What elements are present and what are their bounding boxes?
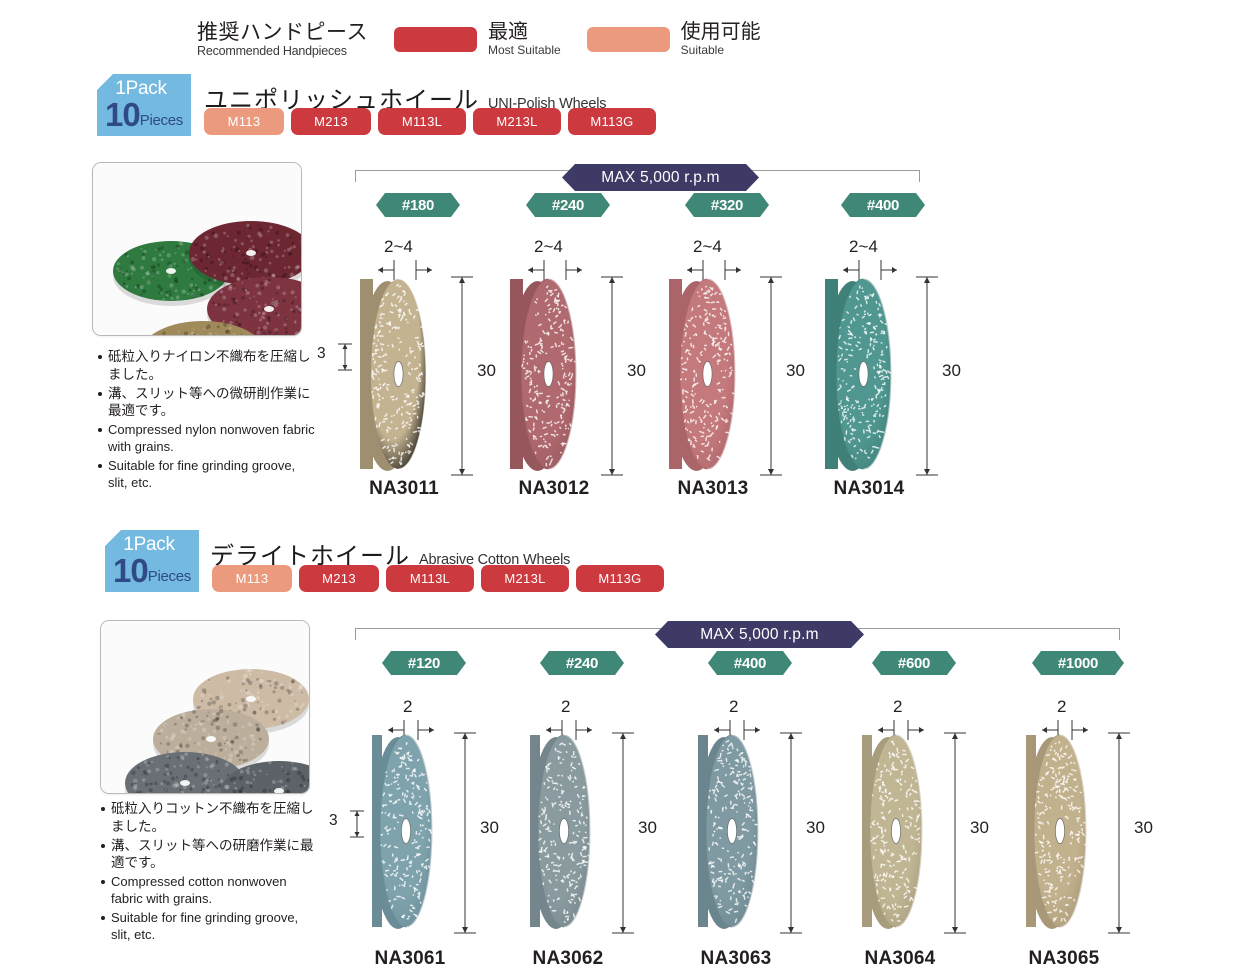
part-number-value: NA3063 [701,948,772,969]
diameter-dimension-marks [451,273,477,479]
grit-label: #320 [711,197,743,214]
bore-value: 3 [317,345,326,362]
thickness-value: 2 [893,697,902,716]
diameter-value: 30 [480,818,499,837]
feature-bullet-en: Compressed cotton nonwoven fabric with g… [100,873,318,907]
thickness-dimension-marks [370,260,440,280]
bore-label: 3 [317,345,326,363]
diameter-label: 30 [970,818,989,838]
part-number: NA3013 [653,478,773,500]
diameter-dimension-marks [1108,729,1134,937]
grit-label: #120 [408,655,440,672]
part-number-value: NA3011 [369,478,439,499]
thickness-label: 2 [729,697,738,717]
part-number: NA3065 [1004,948,1124,970]
handpiece-chip-m213l[interactable]: M213L [473,108,561,135]
thickness-label: 2 [403,697,412,717]
handpiece-chip-label: M213 [314,114,348,129]
part-number-value: NA3064 [865,948,936,969]
diameter-value: 30 [806,818,825,837]
handpiece-chip-m213[interactable]: M213 [299,565,379,592]
wheel-illustration [825,279,893,475]
part-number: NA3062 [508,948,628,970]
thickness-value: 2 [1057,697,1066,716]
handpiece-chip-label: M213 [322,571,356,586]
legend-suitable-jp: 使用可能 [681,22,761,43]
diameter-value: 30 [786,361,805,380]
thickness-label: 2 [1057,697,1066,717]
grit-badge: #600 [872,651,956,675]
grit-label: #600 [898,655,930,672]
handpiece-chip-label: M113L [402,114,442,129]
handpiece-chip-m113g[interactable]: M113G [576,565,664,592]
legend-suitable-en: Suitable [681,44,761,57]
legend-most-suitable-jp: 最適 [488,22,561,43]
thickness-dimension-marks [679,260,749,280]
thickness-value: 2~4 [693,237,722,256]
grit-label: #400 [867,197,899,214]
bore-label: 3 [329,812,338,830]
max-rpm-banner: MAX 5,000 r.p.m [655,621,864,648]
wheel-illustration [530,735,592,933]
thickness-value: 2~4 [384,237,413,256]
diameter-value: 30 [970,818,989,837]
handpiece-chip-label: M213L [504,571,545,586]
grit-badge: #400 [841,193,925,217]
bore-value: 3 [329,812,338,829]
diameter-dimension-marks [760,273,786,479]
pack-badge-count: 10 [113,552,148,589]
feature-bullet-jp: 砥粒入りナイロン不織布を圧縮しました。 [97,348,315,384]
diameter-label: 30 [806,818,825,838]
diameter-label: 30 [480,818,499,838]
part-number-value: NA3012 [519,478,590,499]
handpiece-chip-label: M113G [590,114,633,129]
handpiece-chip-m213l[interactable]: M213L [481,565,569,592]
feature-bullets: 砥粒入りナイロン不織布を圧縮しました。溝、スリット等への微研削作業に最適です。C… [97,348,315,492]
diameter-dimension-marks [916,273,942,479]
pack-badge-unit: Pieces [140,112,183,129]
grit-label: #400 [734,655,766,672]
grit-badge: #400 [708,651,792,675]
part-number-value: NA3061 [375,948,446,969]
diameter-label: 30 [477,361,496,381]
wheel-illustration [360,279,428,475]
legend: 推奨ハンドピース Recommended Handpieces 最適 Most … [197,22,761,58]
legend-title-en: Recommended Handpieces [197,45,368,58]
wheel-illustration [1026,735,1088,933]
thickness-label: 2 [893,697,902,717]
diameter-dimension-marks [454,729,480,937]
part-number-value: NA3065 [1029,948,1100,969]
wheel-illustration [698,735,760,933]
thickness-dimension-marks [520,260,590,280]
max-rpm-label: MAX 5,000 r.p.m [700,626,818,644]
thickness-value: 2 [403,697,412,716]
grit-badge: #240 [526,193,610,217]
grit-badge: #240 [540,651,624,675]
thickness-label: 2~4 [693,237,722,257]
pack-badge-count-row: 10Pieces [105,552,199,590]
legend-most-suitable: 最適 Most Suitable [394,22,561,57]
diameter-label: 30 [942,361,961,381]
legend-most-suitable-en: Most Suitable [488,44,561,57]
thickness-dimension-marks [835,260,905,280]
thickness-label: 2~4 [849,237,878,257]
diameter-value: 30 [627,361,646,380]
product-photo [92,162,302,336]
max-rpm-label: MAX 5,000 r.p.m [601,169,719,187]
diameter-label: 30 [1134,818,1153,838]
handpiece-chip-label: M113G [598,571,641,586]
wheel-illustration [372,735,434,933]
pack-badge-count-row: 10Pieces [97,96,191,134]
wheel-illustration [510,279,578,475]
thickness-value: 2~4 [534,237,563,256]
thickness-label: 2~4 [534,237,563,257]
handpiece-chip-m213[interactable]: M213 [291,108,371,135]
handpiece-chip-m113[interactable]: M113 [204,108,284,135]
wheel-illustration [862,735,924,933]
feature-bullet-jp: 溝、スリット等への研磨作業に最適です。 [100,837,318,873]
handpiece-chip-m113g[interactable]: M113G [568,108,656,135]
diameter-label: 30 [786,361,805,381]
handpiece-chip-m113l[interactable]: M113L [386,565,474,592]
thickness-value: 2 [729,697,738,716]
part-number-value: NA3062 [533,948,604,969]
diameter-value: 30 [477,361,496,380]
feature-bullet-en: Suitable for fine grinding groove, slit,… [97,457,315,491]
thickness-label: 2~4 [384,237,413,257]
feature-bullet-en: Suitable for fine grinding groove, slit,… [100,909,318,943]
handpiece-chip-label: M113L [410,571,450,586]
part-number: NA3014 [809,478,929,500]
diameter-value: 30 [942,361,961,380]
diameter-dimension-marks [601,273,627,479]
pack-badge: 1Pack 10Pieces [105,530,199,592]
grit-label: #240 [566,655,598,672]
feature-bullet-jp: 溝、スリット等への微研削作業に最適です。 [97,385,315,421]
part-number: NA3064 [840,948,960,970]
bore-dimension-marks [336,342,356,372]
grit-badge: #1000 [1032,651,1124,675]
handpiece-chip-list: M113M213M113LM213LM113G [212,565,671,592]
legend-suitable: 使用可能 Suitable [587,22,761,57]
catalog-page: 推奨ハンドピース Recommended Handpieces 最適 Most … [0,0,1243,979]
feature-bullet-en: Compressed nylon nonwoven fabric with gr… [97,421,315,455]
grit-badge: #120 [382,651,466,675]
max-rpm-banner: MAX 5,000 r.p.m [562,164,759,191]
thickness-value: 2~4 [849,237,878,256]
pack-badge-count: 10 [105,96,140,133]
part-number: NA3061 [350,948,470,970]
pack-badge-unit: Pieces [148,568,191,585]
swatch-most-suitable [394,27,477,52]
part-number: NA3063 [676,948,796,970]
grit-badge: #320 [685,193,769,217]
bore-dimension-marks [348,809,368,839]
handpiece-chip-label: M113 [228,114,261,129]
grit-label: #240 [552,197,584,214]
diameter-value: 30 [1134,818,1153,837]
wheel-illustration [669,279,737,475]
legend-title-jp: 推奨ハンドピース [197,22,368,44]
legend-title: 推奨ハンドピース Recommended Handpieces [197,22,368,58]
handpiece-chip-m113l[interactable]: M113L [378,108,466,135]
handpiece-chip-label: M113 [236,571,269,586]
diameter-dimension-marks [944,729,970,937]
part-number-value: NA3013 [678,478,749,499]
grit-label: #180 [402,197,434,214]
pack-badge: 1Pack 10Pieces [97,74,191,136]
diameter-label: 30 [627,361,646,381]
handpiece-chip-label: M213L [496,114,537,129]
thickness-label: 2 [561,697,570,717]
part-number: NA3011 [344,478,464,500]
diameter-dimension-marks [612,729,638,937]
grit-label: #1000 [1058,655,1098,672]
product-photo [100,620,310,794]
part-number-value: NA3014 [834,478,905,499]
diameter-value: 30 [638,818,657,837]
diameter-dimension-marks [780,729,806,937]
grit-badge: #180 [376,193,460,217]
handpiece-chip-list: M113M213M113LM213LM113G [204,108,663,135]
feature-bullet-jp: 砥粒入りコットン不織布を圧縮しました。 [100,800,318,836]
handpiece-chip-m113[interactable]: M113 [212,565,292,592]
thickness-value: 2 [561,697,570,716]
part-number: NA3012 [494,478,614,500]
swatch-suitable [587,27,670,52]
feature-bullets: 砥粒入りコットン不織布を圧縮しました。溝、スリット等への研磨作業に最適です。Co… [100,800,318,944]
diameter-label: 30 [638,818,657,838]
